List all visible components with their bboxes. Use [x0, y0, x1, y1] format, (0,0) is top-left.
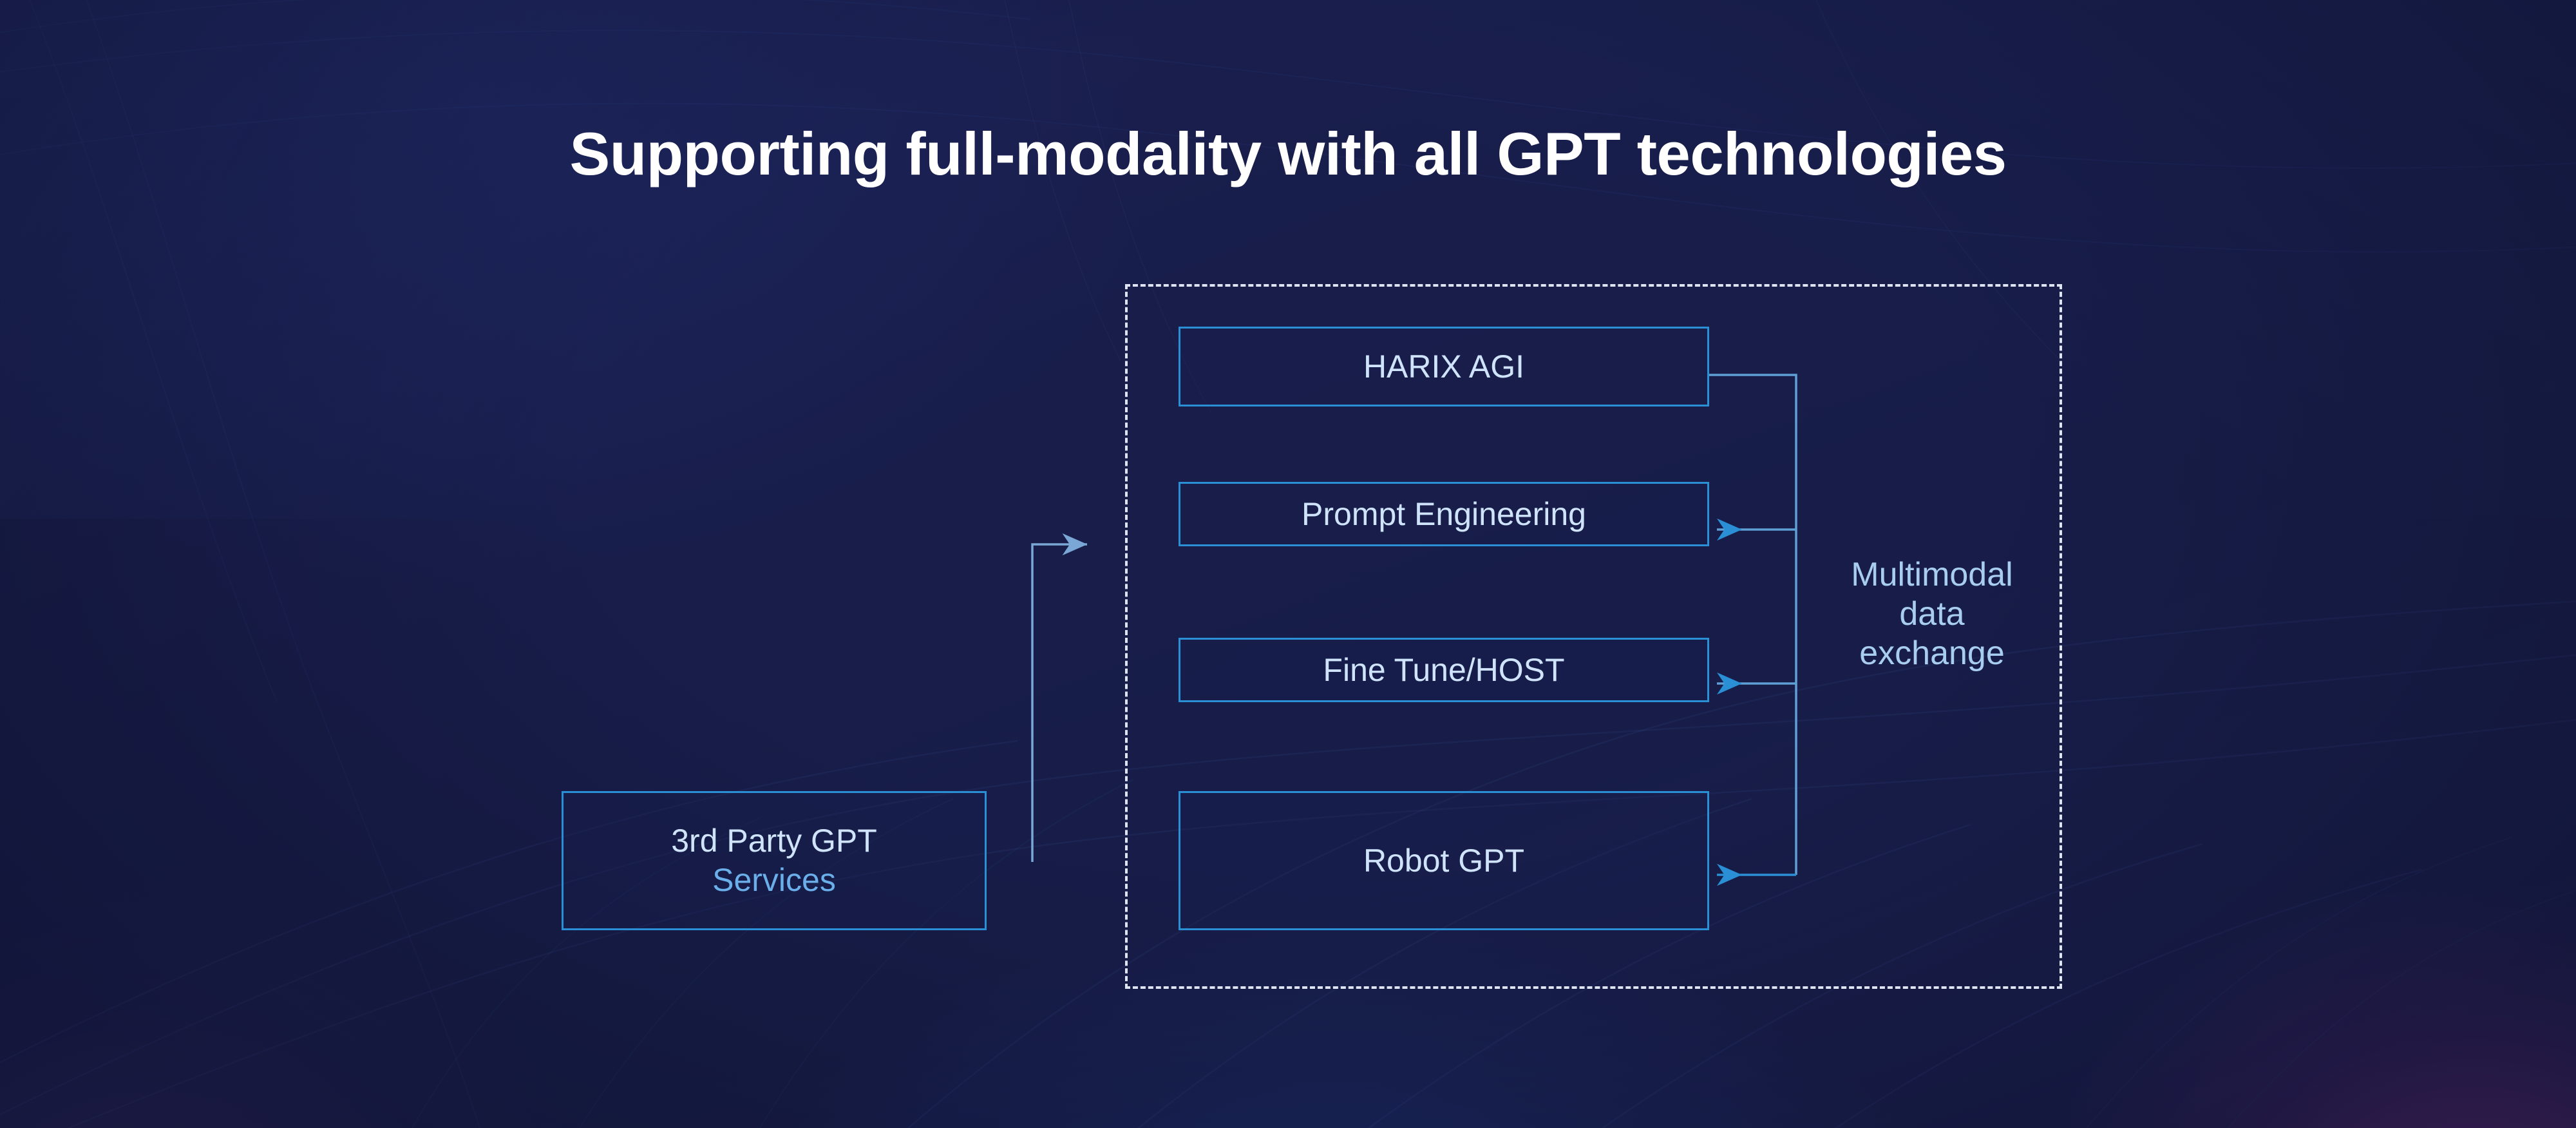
side-caption-multimodal-data-exchange: Multimodal data exchange — [1816, 555, 2048, 673]
page-title: Supporting full-modality with all GPT te… — [0, 119, 2576, 189]
side-caption-line3: exchange — [1816, 634, 2048, 673]
node-third-party-gpt-services[interactable]: 3rd Party GPT Services — [562, 791, 987, 930]
node-harix-agi[interactable]: HARIX AGI — [1179, 327, 1709, 406]
node-robot-gpt[interactable]: Robot GPT — [1179, 791, 1709, 930]
slide-canvas: Supporting full-modality with all GPT te… — [0, 0, 2576, 1128]
node-third-party-gpt-line1: 3rd Party GPT — [671, 821, 877, 861]
side-caption-line2: data — [1816, 595, 2048, 634]
node-fine-tune-host-label: Fine Tune/HOST — [1323, 651, 1564, 690]
node-prompt-engineering[interactable]: Prompt Engineering — [1179, 482, 1709, 546]
side-caption-line1: Multimodal — [1816, 555, 2048, 595]
node-fine-tune-host[interactable]: Fine Tune/HOST — [1179, 638, 1709, 702]
node-third-party-gpt-line2: Services — [712, 861, 836, 900]
node-harix-agi-label: HARIX AGI — [1363, 347, 1524, 387]
node-robot-gpt-label: Robot GPT — [1363, 841, 1524, 881]
node-prompt-engineering-label: Prompt Engineering — [1302, 495, 1586, 534]
